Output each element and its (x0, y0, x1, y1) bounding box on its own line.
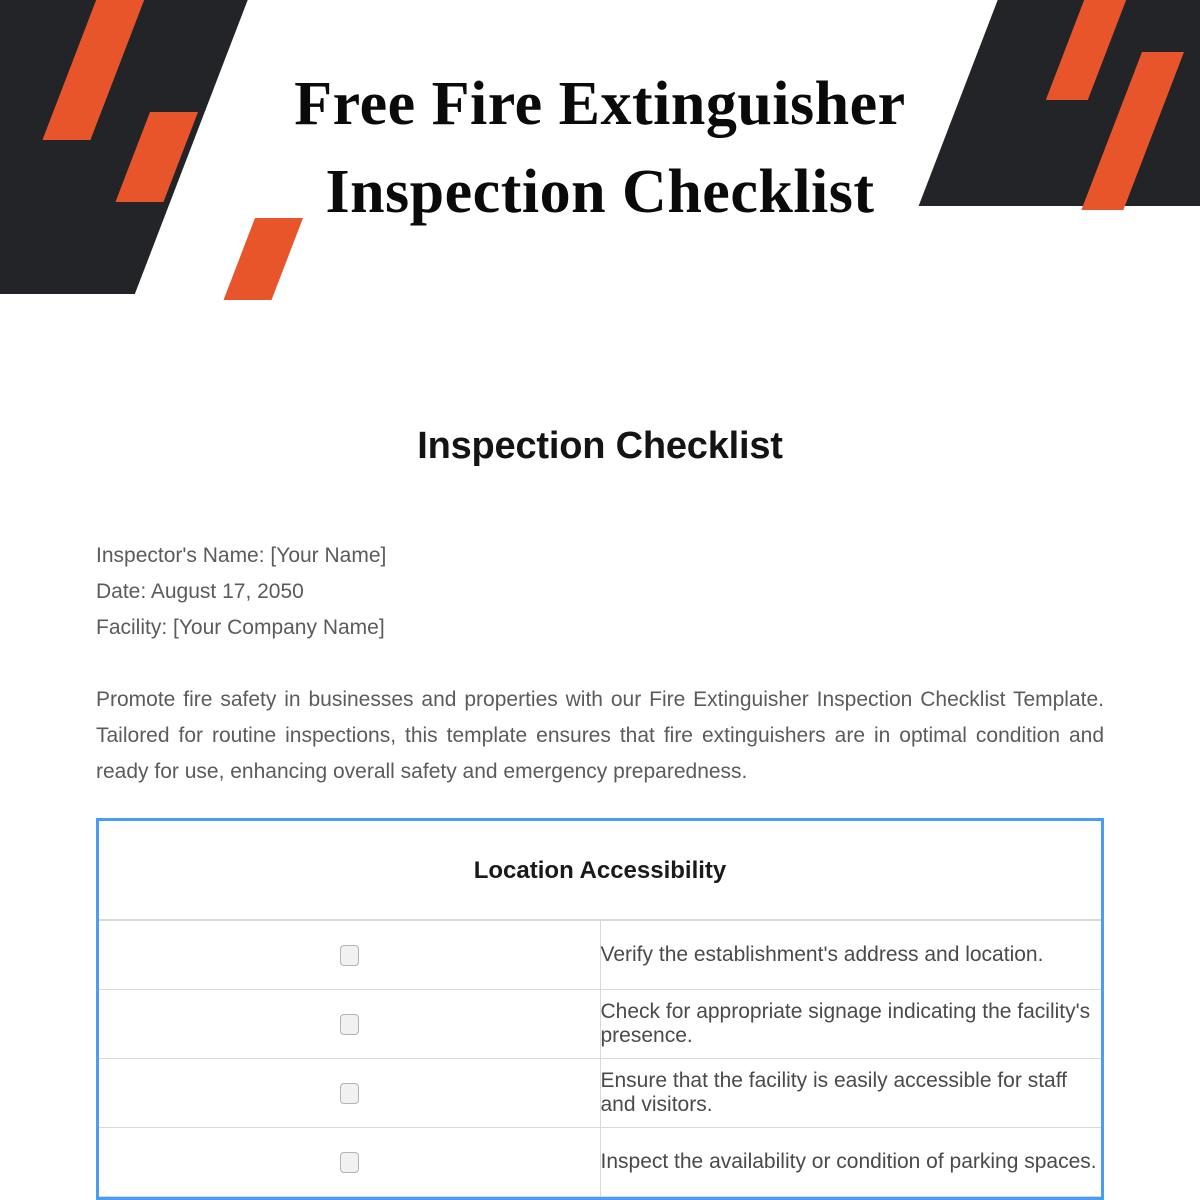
checklist-item-label: Ensure that the facility is easily acces… (600, 1059, 1101, 1128)
unchecked-checkbox-icon[interactable] (340, 1152, 359, 1173)
table-row[interactable]: Ensure that the facility is easily acces… (99, 1059, 1101, 1128)
checklist-item-label: Check for appropriate signage indicating… (600, 990, 1101, 1059)
meta-date: Date: August 17, 2050 (96, 574, 1104, 610)
banner-title: Free Fire Extinguisher Inspection Checkl… (0, 60, 1200, 236)
checklist-rows: Verify the establishment's address and l… (99, 920, 1101, 1197)
inspection-meta: Inspector's Name: [Your Name] Date: Augu… (96, 538, 1104, 646)
page-title: Inspection Checklist (96, 300, 1104, 468)
table-row[interactable]: Inspect the availability or condition of… (99, 1128, 1101, 1197)
document-body: Inspection Checklist Inspector's Name: [… (0, 300, 1200, 1200)
meta-facility: Facility: [Your Company Name] (96, 610, 1104, 646)
intro-paragraph: Promote fire safety in businesses and pr… (96, 682, 1104, 790)
checklist-item-label: Inspect the availability or condition of… (600, 1128, 1101, 1197)
checkbox-cell[interactable] (99, 1059, 600, 1128)
section-title-location-accessibility: Location Accessibility (99, 821, 1101, 920)
checkbox-cell[interactable] (99, 920, 600, 990)
unchecked-checkbox-icon[interactable] (340, 945, 359, 966)
table-section-header-row: Location Accessibility (99, 821, 1101, 920)
table-row[interactable]: Verify the establishment's address and l… (99, 920, 1101, 990)
table-row[interactable]: Check for appropriate signage indicating… (99, 990, 1101, 1059)
unchecked-checkbox-icon[interactable] (340, 1083, 359, 1104)
unchecked-checkbox-icon[interactable] (340, 1014, 359, 1035)
header-banner: Free Fire Extinguisher Inspection Checkl… (0, 0, 1200, 300)
meta-inspector-name: Inspector's Name: [Your Name] (96, 538, 1104, 574)
checklist-table-container[interactable]: Location Accessibility Verify the establ… (96, 818, 1104, 1200)
checklist-table: Location Accessibility Verify the establ… (99, 821, 1101, 1197)
checkbox-cell[interactable] (99, 990, 600, 1059)
checkbox-cell[interactable] (99, 1128, 600, 1197)
checklist-item-label: Verify the establishment's address and l… (600, 920, 1101, 990)
